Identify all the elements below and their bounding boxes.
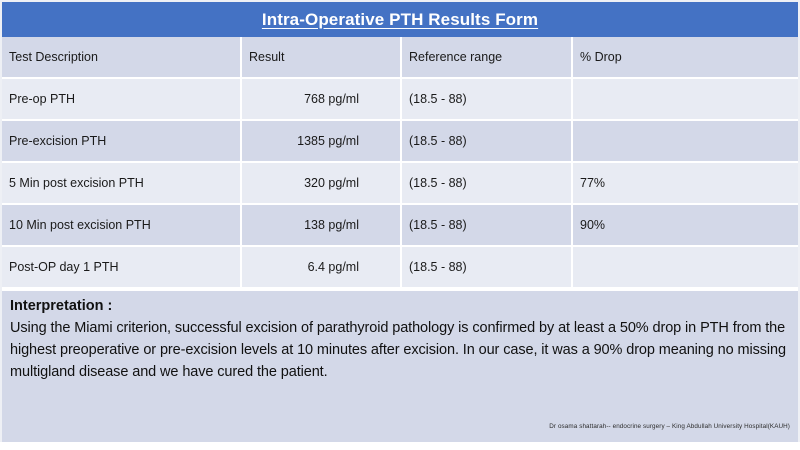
cell-test-description: 5 Min post excision PTH bbox=[2, 162, 241, 204]
column-header-percent-drop: % Drop bbox=[572, 37, 798, 78]
cell-result: 6.4 pg/ml bbox=[241, 246, 401, 288]
cell-reference-range: (18.5 - 88) bbox=[401, 246, 572, 288]
cell-result: 138 pg/ml bbox=[241, 204, 401, 246]
interpretation-heading: Interpretation : bbox=[10, 297, 788, 316]
cell-reference-range: (18.5 - 88) bbox=[401, 162, 572, 204]
cell-result: 1385 pg/ml bbox=[241, 120, 401, 162]
table-header-row: Test Description Result Reference range … bbox=[2, 37, 798, 78]
pth-results-table: Test Description Result Reference range … bbox=[2, 37, 798, 289]
cell-percent-drop bbox=[572, 78, 798, 120]
cell-reference-range: (18.5 - 88) bbox=[401, 120, 572, 162]
interpretation-body: Using the Miami criterion, successful ex… bbox=[10, 317, 788, 383]
author-attribution: Dr osama shattarah-- endocrine surgery –… bbox=[549, 423, 790, 430]
cell-percent-drop: 77% bbox=[572, 162, 798, 204]
cell-percent-drop bbox=[572, 246, 798, 288]
title-bar: Intra-Operative PTH Results Form bbox=[2, 2, 798, 37]
column-header-test-description: Test Description bbox=[2, 37, 241, 78]
table-row: Pre-excision PTH 1385 pg/ml (18.5 - 88) bbox=[2, 120, 798, 162]
pth-results-slide: Intra-Operative PTH Results Form Test De… bbox=[0, 0, 800, 450]
cell-percent-drop: 90% bbox=[572, 204, 798, 246]
column-header-reference-range: Reference range bbox=[401, 37, 572, 78]
cell-test-description: Pre-excision PTH bbox=[2, 120, 241, 162]
cell-test-description: 10 Min post excision PTH bbox=[2, 204, 241, 246]
cell-percent-drop bbox=[572, 120, 798, 162]
cell-result: 320 pg/ml bbox=[241, 162, 401, 204]
table-row: Post-OP day 1 PTH 6.4 pg/ml (18.5 - 88) bbox=[2, 246, 798, 288]
slide-edge-bottom bbox=[0, 442, 800, 450]
table-row: 5 Min post excision PTH 320 pg/ml (18.5 … bbox=[2, 162, 798, 204]
table-row: 10 Min post excision PTH 138 pg/ml (18.5… bbox=[2, 204, 798, 246]
cell-test-description: Post-OP day 1 PTH bbox=[2, 246, 241, 288]
table-row: Pre-op PTH 768 pg/ml (18.5 - 88) bbox=[2, 78, 798, 120]
interpretation-panel: Interpretation : Using the Miami criteri… bbox=[2, 291, 798, 442]
cell-result: 768 pg/ml bbox=[241, 78, 401, 120]
cell-test-description: Pre-op PTH bbox=[2, 78, 241, 120]
cell-reference-range: (18.5 - 88) bbox=[401, 78, 572, 120]
cell-reference-range: (18.5 - 88) bbox=[401, 204, 572, 246]
page-title: Intra-Operative PTH Results Form bbox=[262, 10, 538, 30]
column-header-result: Result bbox=[241, 37, 401, 78]
